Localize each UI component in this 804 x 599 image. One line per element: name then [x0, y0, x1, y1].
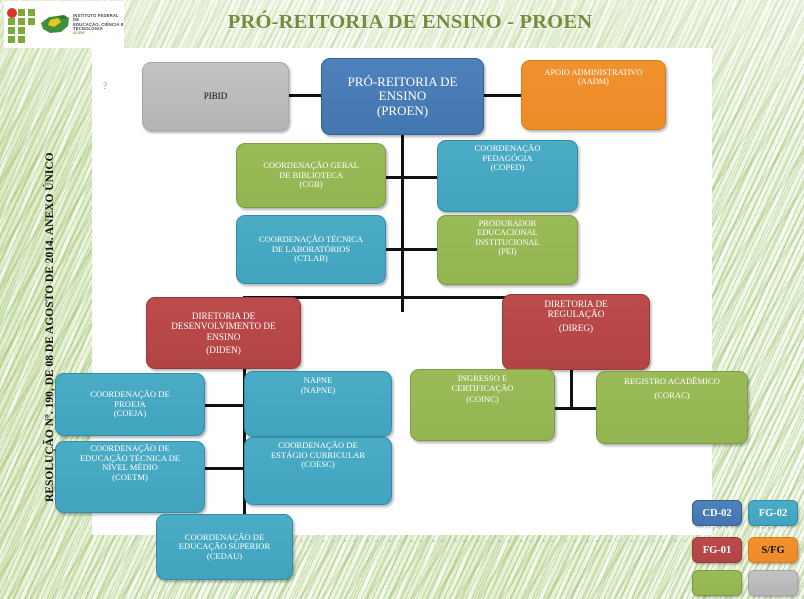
edge-pibid-proen: [288, 94, 322, 97]
node-napne[interactable]: NAPNE (NAPNE): [244, 371, 392, 437]
node-pibid[interactable]: PIBID: [142, 62, 289, 131]
node-proen-line-3: (PROEN): [377, 104, 428, 119]
node-ctlab[interactable]: COORDENAÇÃO TÉCNICA DE LABORATÓRIOS (CTL…: [236, 215, 386, 284]
logo-wordmark: INSTITUTO FEDERAL DE EDUCAÇÃO, CIÊNCIA E…: [73, 14, 124, 35]
node-coinc-line-3: (COINC): [466, 395, 498, 405]
legend-fg-01-label: FG-01: [703, 545, 732, 556]
edge-row2-pei: [401, 248, 438, 251]
node-diden-line-1: DIRETORIA DE: [192, 311, 255, 321]
node-aadm-line-1: APOIO ADMINISTRATIVO: [545, 68, 643, 77]
node-napne-line-2: (NAPNE): [301, 386, 335, 396]
node-pei-line-1: PRODURADOR: [479, 219, 537, 228]
node-coesc[interactable]: COORDENAÇÃO DE ESTÁGIO CURRICULAR (COESC…: [244, 437, 392, 505]
node-diden-line-2: DESENVOLVIMENTO DE: [171, 321, 275, 331]
edge-diden-row2-left: [205, 467, 245, 470]
node-coeja[interactable]: COORDENAÇÃO DE PROEJA (COEJA): [55, 373, 205, 436]
node-proen[interactable]: PRÓ-REITORIA DE ENSINO (PROEN): [321, 58, 484, 135]
legend-fg-03-label: FG-03: [748, 525, 798, 536]
node-diden-line-4: (DIDEN): [206, 345, 241, 355]
edge-row1-coped: [401, 176, 438, 179]
node-direg-line-2: REGULAÇÃO: [548, 309, 605, 319]
legend: CD-02 FG-02 CD-04 FG-03 FG-01 S/FG: [692, 500, 800, 596]
acre-map-icon: [40, 13, 70, 37]
legend-gray-swatch[interactable]: [748, 570, 798, 596]
node-corac[interactable]: REGISTRO ACADÊMICO (CORAC): [596, 371, 748, 444]
node-pei[interactable]: PRODURADOR EDUCACIONAL INSTITUCIONAL (PE…: [437, 215, 578, 285]
node-diden[interactable]: DIRETORIA DE DESENVOLVIMENTO DE ENSINO (…: [146, 297, 301, 369]
node-coped-line-3: (COPED): [491, 163, 525, 173]
edge-diden-row1-left: [205, 404, 245, 407]
institution-logo: INSTITUTO FEDERAL DE EDUCAÇÃO, CIÊNCIA E…: [4, 1, 124, 48]
legend-cd-02-label: CD-02: [702, 508, 731, 519]
node-pei-line-2: EDUCACIONAL: [477, 228, 537, 237]
node-cedau-line-3: (CEDAU): [207, 552, 242, 562]
stray-mark: ?: [103, 81, 107, 91]
node-corac-line-1: REGISTRO ACADÊMICO: [624, 377, 720, 387]
node-pei-line-3: INSTITUCIONAL: [475, 238, 539, 247]
legend-green-swatch[interactable]: [692, 570, 742, 596]
edge-proen-trunk: [401, 132, 404, 312]
node-coetm[interactable]: COORDENAÇÃO DE EDUCAÇÃO TÉCNICA DE NÍVEL…: [55, 441, 205, 513]
node-coetm-line-4: (COETM): [112, 473, 148, 483]
node-diden-line-3: ENSINO: [207, 332, 241, 342]
node-coped[interactable]: COORDENAÇÃO PEDAGÓGIA (COPED): [437, 140, 578, 212]
node-proen-line-1: PRÓ-REITORIA DE: [348, 75, 458, 90]
node-pibid-line-1: PIBID: [204, 91, 228, 101]
node-coeja-line-3: (COEJA): [114, 409, 146, 419]
page-title: PRÓ-REITORIA DE ENSINO - PROEN: [150, 6, 670, 39]
edge-proen-aadm: [483, 94, 522, 97]
node-proen-line-2: ENSINO: [379, 89, 427, 104]
legend-cd-04-label: CD-04: [692, 525, 742, 536]
node-aadm-line-2: (AADM): [578, 77, 609, 86]
node-direg-line-1: DIRETORIA DE: [544, 299, 607, 309]
node-corac-line-2: (CORAC): [654, 391, 689, 401]
resolution-caption: RESOLUÇÃO Nº. 190, DE 08 DE AGOSTO DE 20…: [43, 137, 57, 517]
node-aadm[interactable]: APOIO ADMINISTRATIVO (AADM): [521, 60, 666, 130]
legend-fg-01[interactable]: FG-01: [692, 537, 742, 563]
node-direg-line-3: (DIREG): [559, 323, 593, 333]
node-cgb-line-3: (CGB): [299, 180, 322, 190]
logo-line-3: ACRE: [73, 31, 124, 35]
legend-fg-02[interactable]: FG-02: [748, 500, 798, 526]
node-direg[interactable]: DIRETORIA DE REGULAÇÃO (DIREG): [502, 294, 650, 370]
node-coinc-line-2: CERTIFICAÇÃO: [451, 384, 513, 394]
if-logo-mark: [7, 8, 37, 42]
edge-direg-trunk: [570, 370, 573, 410]
node-pei-line-4: (PEI): [498, 247, 516, 256]
node-coesc-line-3: (COESC): [301, 460, 334, 470]
node-ctlab-line-3: (CTLAB): [294, 254, 328, 264]
logo-red-dot: [7, 8, 17, 18]
legend-fg-02-label: FG-02: [759, 508, 788, 519]
legend-cd-02[interactable]: CD-02: [692, 500, 742, 526]
legend-s-fg[interactable]: S/FG: [748, 537, 798, 563]
node-coinc[interactable]: INGRESSO E CERTIFICAÇÃO (COINC): [410, 369, 555, 441]
node-cedau[interactable]: COORDENAÇÃO DE EDUCAÇÃO SUPERIOR (CEDAU): [156, 514, 293, 580]
scan-artifact-row: [300, 540, 690, 542]
node-cgb[interactable]: COORDENAÇÃO GERAL DE BIBLIOTECA (CGB): [236, 143, 386, 208]
legend-s-fg-label: S/FG: [761, 545, 784, 556]
